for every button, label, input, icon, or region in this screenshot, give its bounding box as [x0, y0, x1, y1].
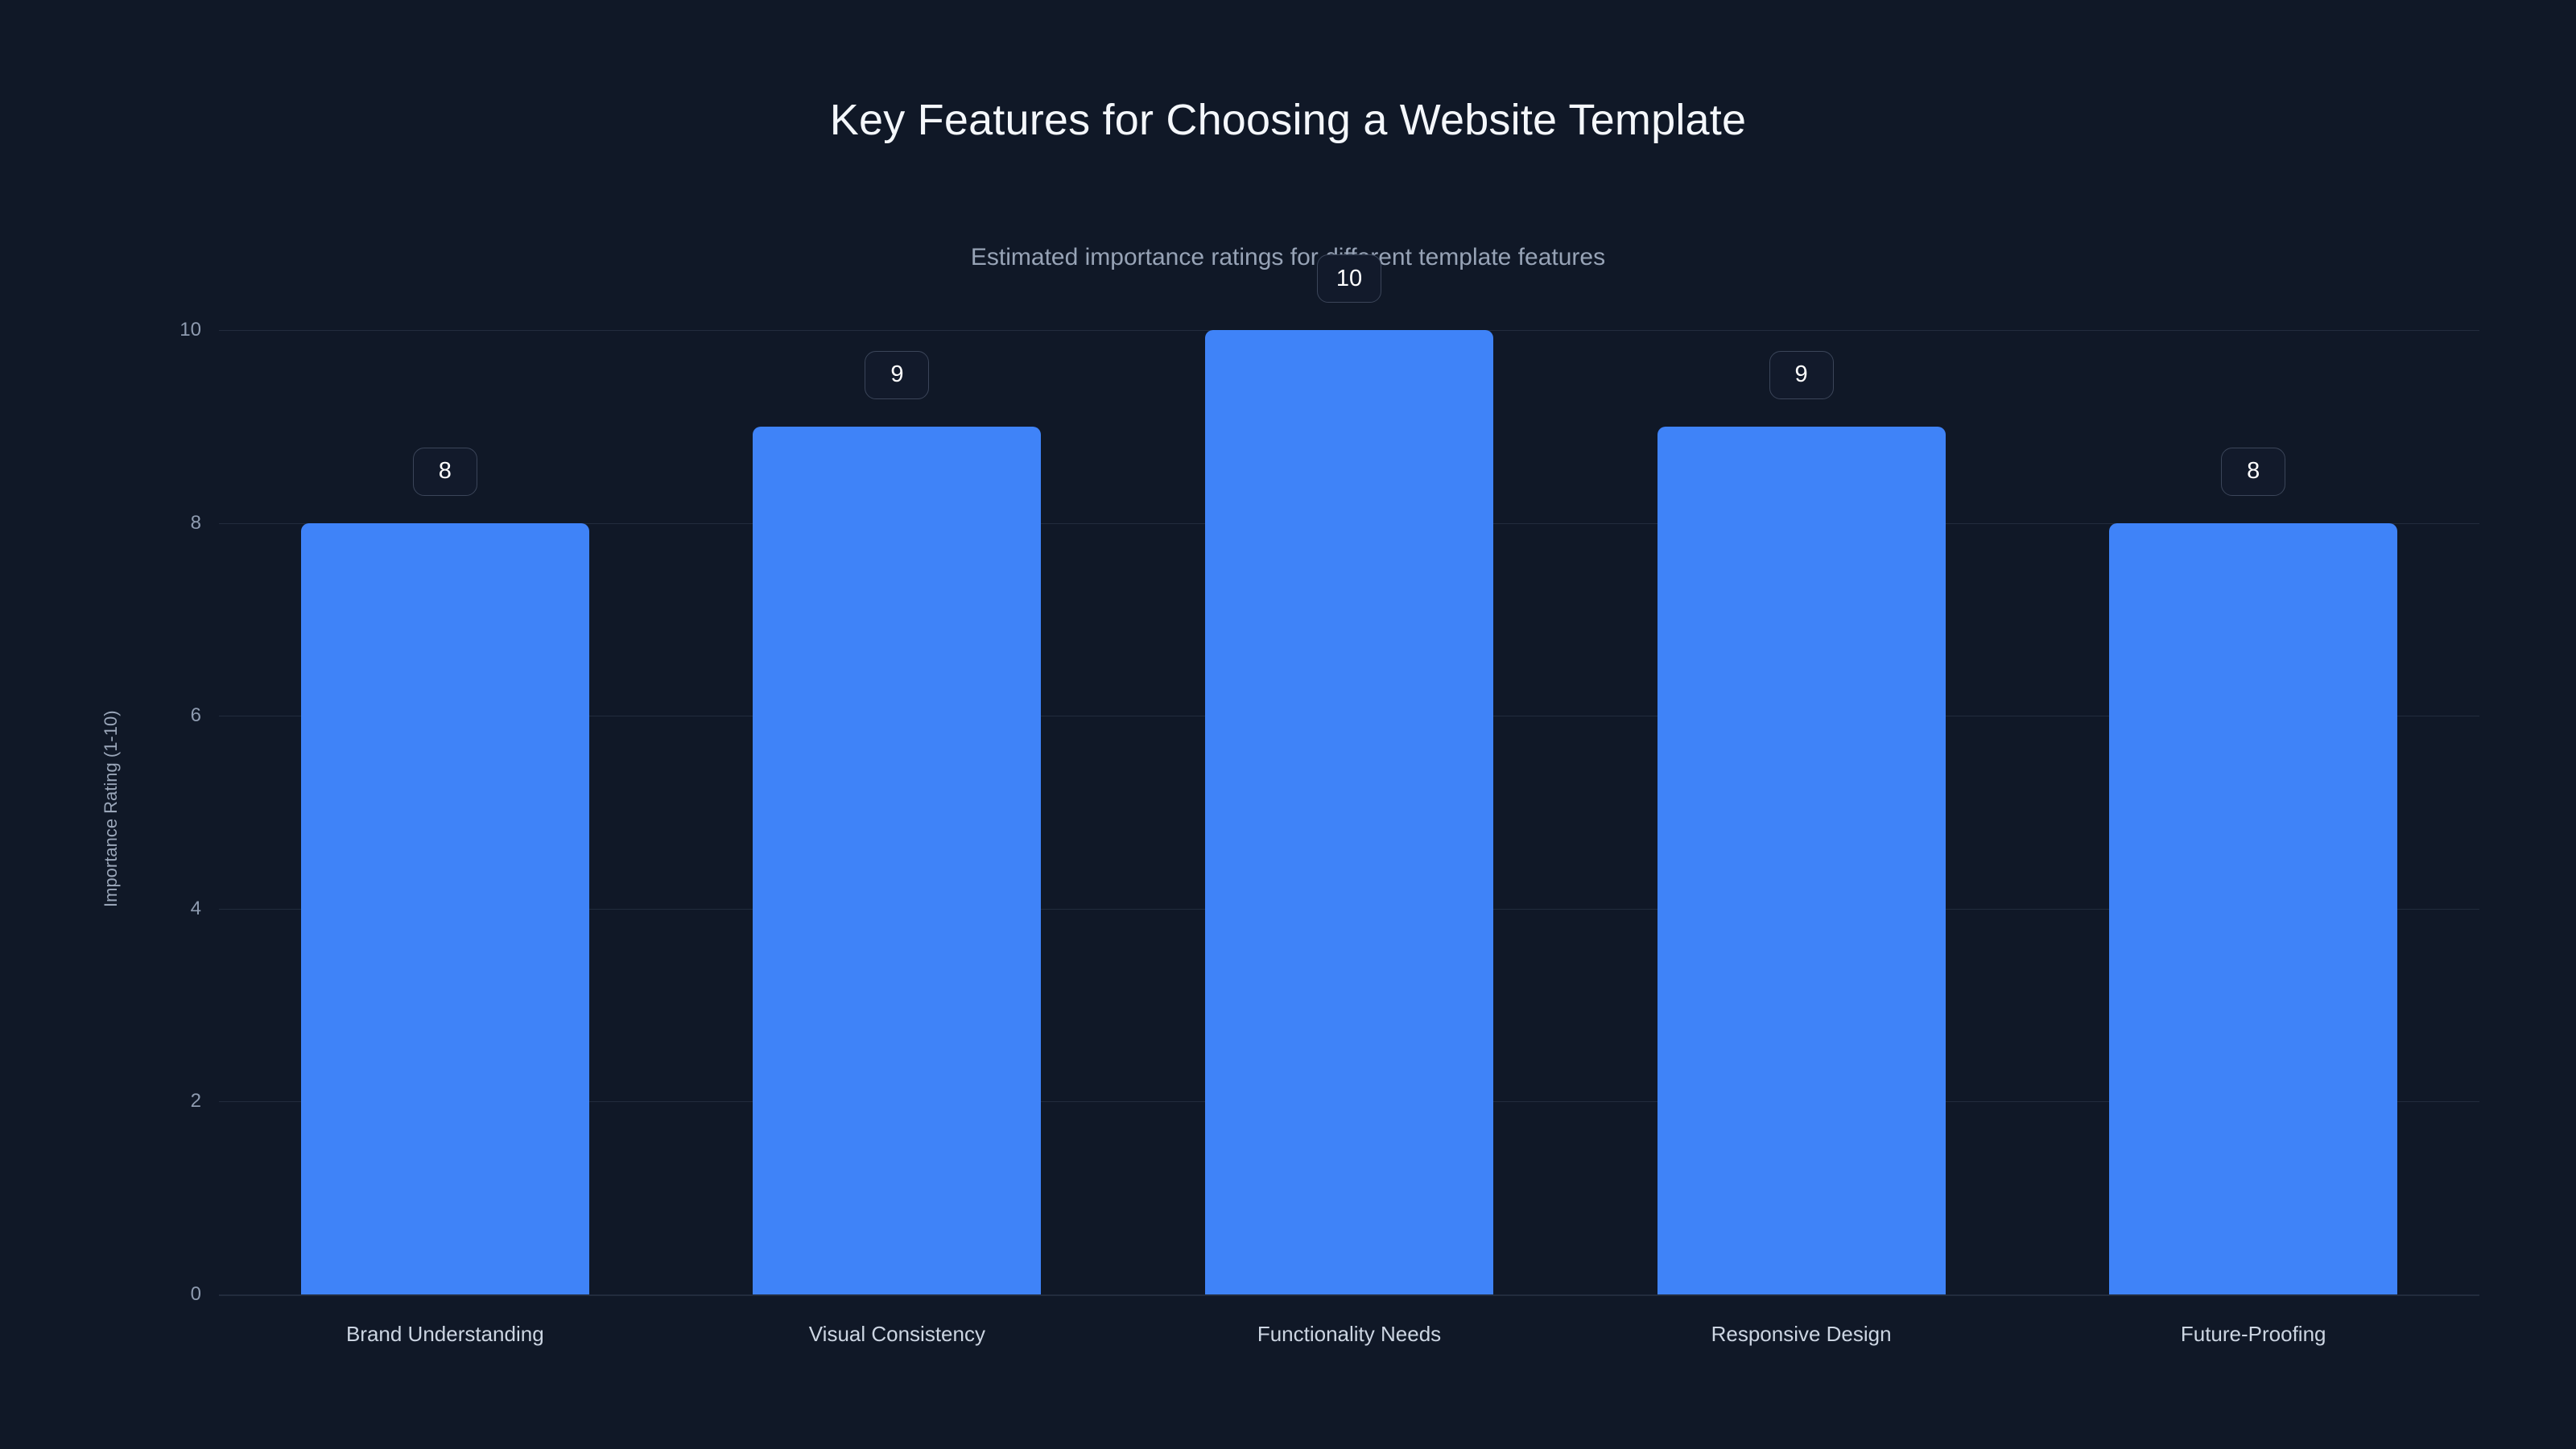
bar[interactable]	[1205, 330, 1493, 1294]
bar-value-badge: 9	[1769, 351, 1834, 399]
y-axis-tick-label: 2	[145, 1092, 201, 1111]
x-axis-tick-label: Visual Consistency	[671, 1323, 1124, 1344]
y-axis-title: Importance Rating (1-10)	[95, 680, 127, 938]
chart-title: Key Features for Choosing a Website Temp…	[0, 97, 2576, 144]
x-axis-tick-label: Brand Understanding	[219, 1323, 671, 1344]
y-axis-tick-label: 0	[145, 1285, 201, 1304]
x-axis-tick-label: Future-Proofing	[2027, 1323, 2479, 1344]
bar[interactable]	[301, 523, 589, 1294]
chart-subtitle: Estimated importance ratings for differe…	[0, 244, 2576, 270]
bar-chart-figure: Key Features for Choosing a Website Temp…	[0, 0, 2576, 1449]
bar[interactable]	[1657, 427, 1946, 1294]
bar-value-badge: 9	[865, 351, 929, 399]
bar-value-badge: 8	[2221, 448, 2285, 496]
bar[interactable]	[753, 427, 1041, 1294]
bar-value-badge: 8	[413, 448, 477, 496]
y-axis-tick-label: 10	[145, 320, 201, 340]
x-axis-tick-label: Responsive Design	[1575, 1323, 2028, 1344]
y-axis-tick-label: 6	[145, 706, 201, 725]
bar-value-badge: 10	[1317, 254, 1381, 303]
x-axis-baseline	[219, 1294, 2479, 1296]
y-axis-tick-label: 8	[145, 514, 201, 533]
y-axis-tick-label: 4	[145, 899, 201, 919]
bar[interactable]	[2109, 523, 2397, 1294]
x-axis-tick-label: Functionality Needs	[1123, 1323, 1575, 1344]
